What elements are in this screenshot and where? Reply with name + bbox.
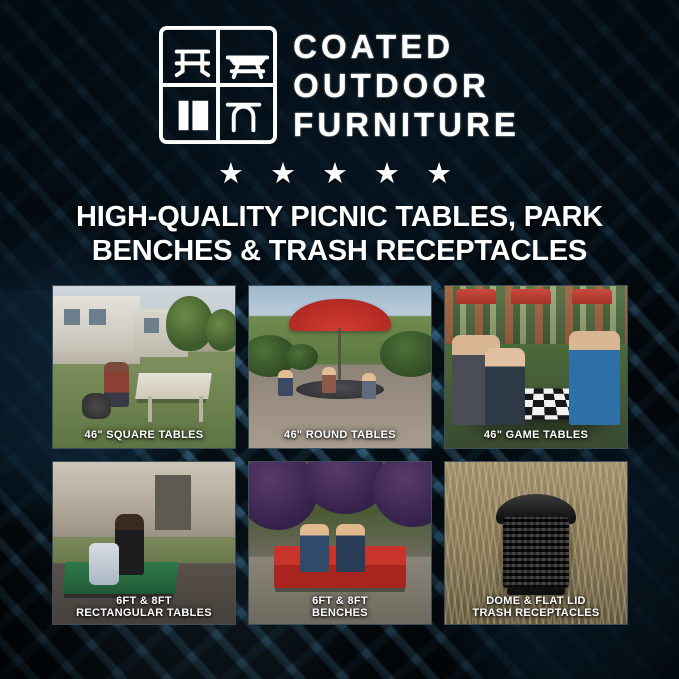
gallery-item-round-tables[interactable]: 46" ROUND TABLES [248,285,432,449]
brand-word-1: COATED [293,30,520,63]
gallery-caption-line-1: 6FT & 8FT [116,595,172,607]
headline-line-2: BENCHES & TRASH RECEPTACLES [32,234,647,268]
gallery-item-benches[interactable]: 6FT & 8FT BENCHES [248,461,432,625]
brand-word-2: OUTDOOR [293,69,520,102]
gallery-item-square-tables[interactable]: 46" SQUARE TABLES [52,285,236,449]
gallery-caption: 46" GAME TABLES [445,425,627,448]
gallery-caption-line-2: RECTANGULAR TABLES [76,607,212,619]
picnic-table-and-trash-can-logo-icon [159,26,277,144]
photo-square-tables [53,286,235,448]
gallery-caption: 6FT & 8FT RECTANGULAR TABLES [53,591,235,624]
gallery-caption-line-2: BENCHES [312,607,368,619]
brand-logo: COATED OUTDOOR FURNITURE [0,26,679,144]
poster-content: COATED OUTDOOR FURNITURE ★ ★ ★ ★ ★ HIGH-… [0,0,679,679]
photo-game-tables [445,286,627,448]
gallery-item-game-tables[interactable]: 46" GAME TABLES [444,285,628,449]
gallery-caption-line-1: DOME & FLAT LID [486,595,586,607]
product-gallery: 46" SQUARE TABLES 46" ROUND TABLES [52,285,628,625]
headline-line-1: HIGH-QUALITY PICNIC TABLES, PARK [76,201,603,233]
gallery-caption: 6FT & 8FT BENCHES [249,591,431,624]
gallery-caption: 46" ROUND TABLES [249,425,431,448]
star-rating: ★ ★ ★ ★ ★ [0,160,679,189]
gallery-caption-line-2: TRASH RECEPTACLES [472,607,599,619]
photo-round-tables [249,286,431,448]
gallery-caption-line-1: 6FT & 8FT [312,595,368,607]
page-title: HIGH-QUALITY PICNIC TABLES, PARK BENCHES… [0,200,679,268]
gallery-caption: 46" SQUARE TABLES [53,425,235,448]
gallery-caption: DOME & FLAT LID TRASH RECEPTACLES [445,591,627,624]
gallery-item-trash-receptacles[interactable]: DOME & FLAT LID TRASH RECEPTACLES [444,461,628,625]
brand-wordmark: COATED OUTDOOR FURNITURE [293,26,520,141]
marketing-poster: COATED OUTDOOR FURNITURE ★ ★ ★ ★ ★ HIGH-… [0,0,679,679]
brand-word-3: FURNITURE [293,108,520,141]
gallery-item-rectangular-tables[interactable]: 6FT & 8FT RECTANGULAR TABLES [52,461,236,625]
